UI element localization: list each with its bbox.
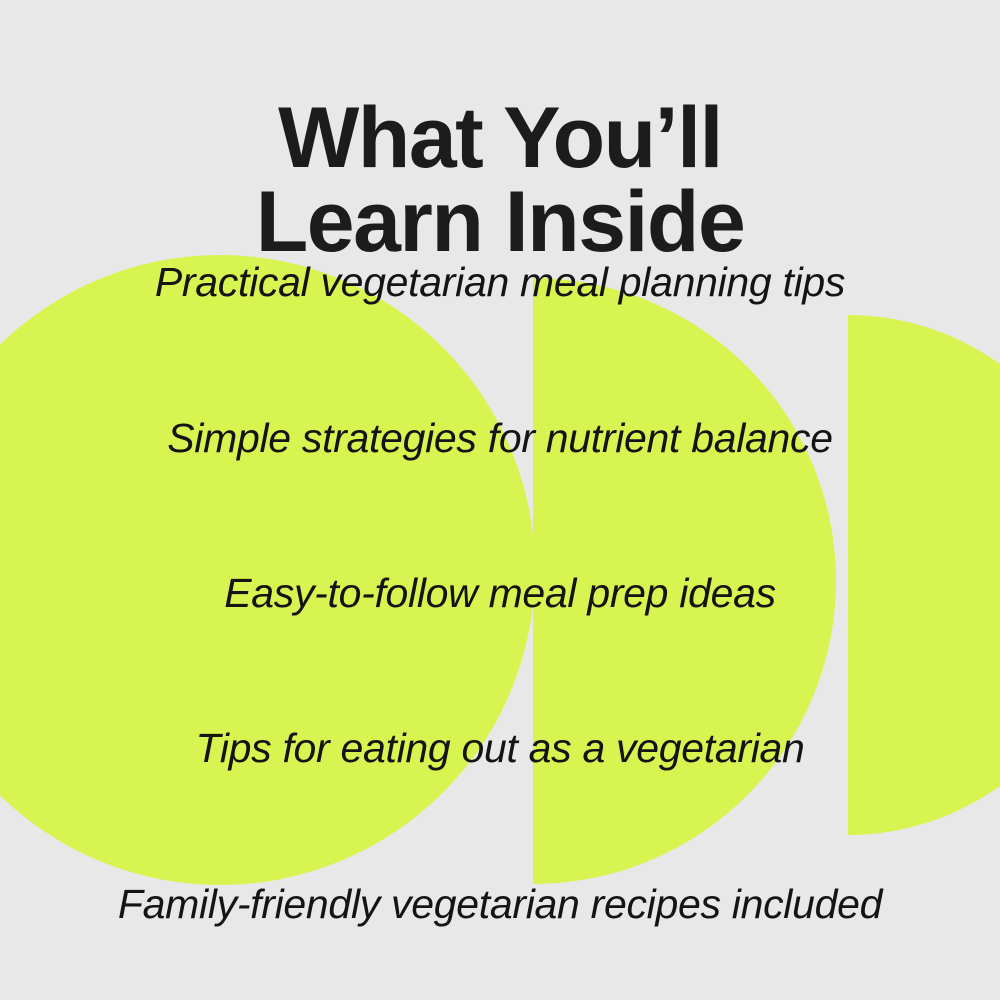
poster-canvas: What You’ll Learn Inside Practical veget… [0, 0, 1000, 1000]
list-item: Family-friendly vegetarian recipes inclu… [0, 884, 1000, 925]
list-item: Tips for eating out as a vegetarian [0, 728, 1000, 769]
list-item: Easy-to-follow meal prep ideas [0, 573, 1000, 614]
list-item: Simple strategies for nutrient balance [0, 418, 1000, 459]
list-item: Practical vegetarian meal planning tips [0, 262, 1000, 303]
page-title: What You’ll Learn Inside [0, 96, 1000, 265]
